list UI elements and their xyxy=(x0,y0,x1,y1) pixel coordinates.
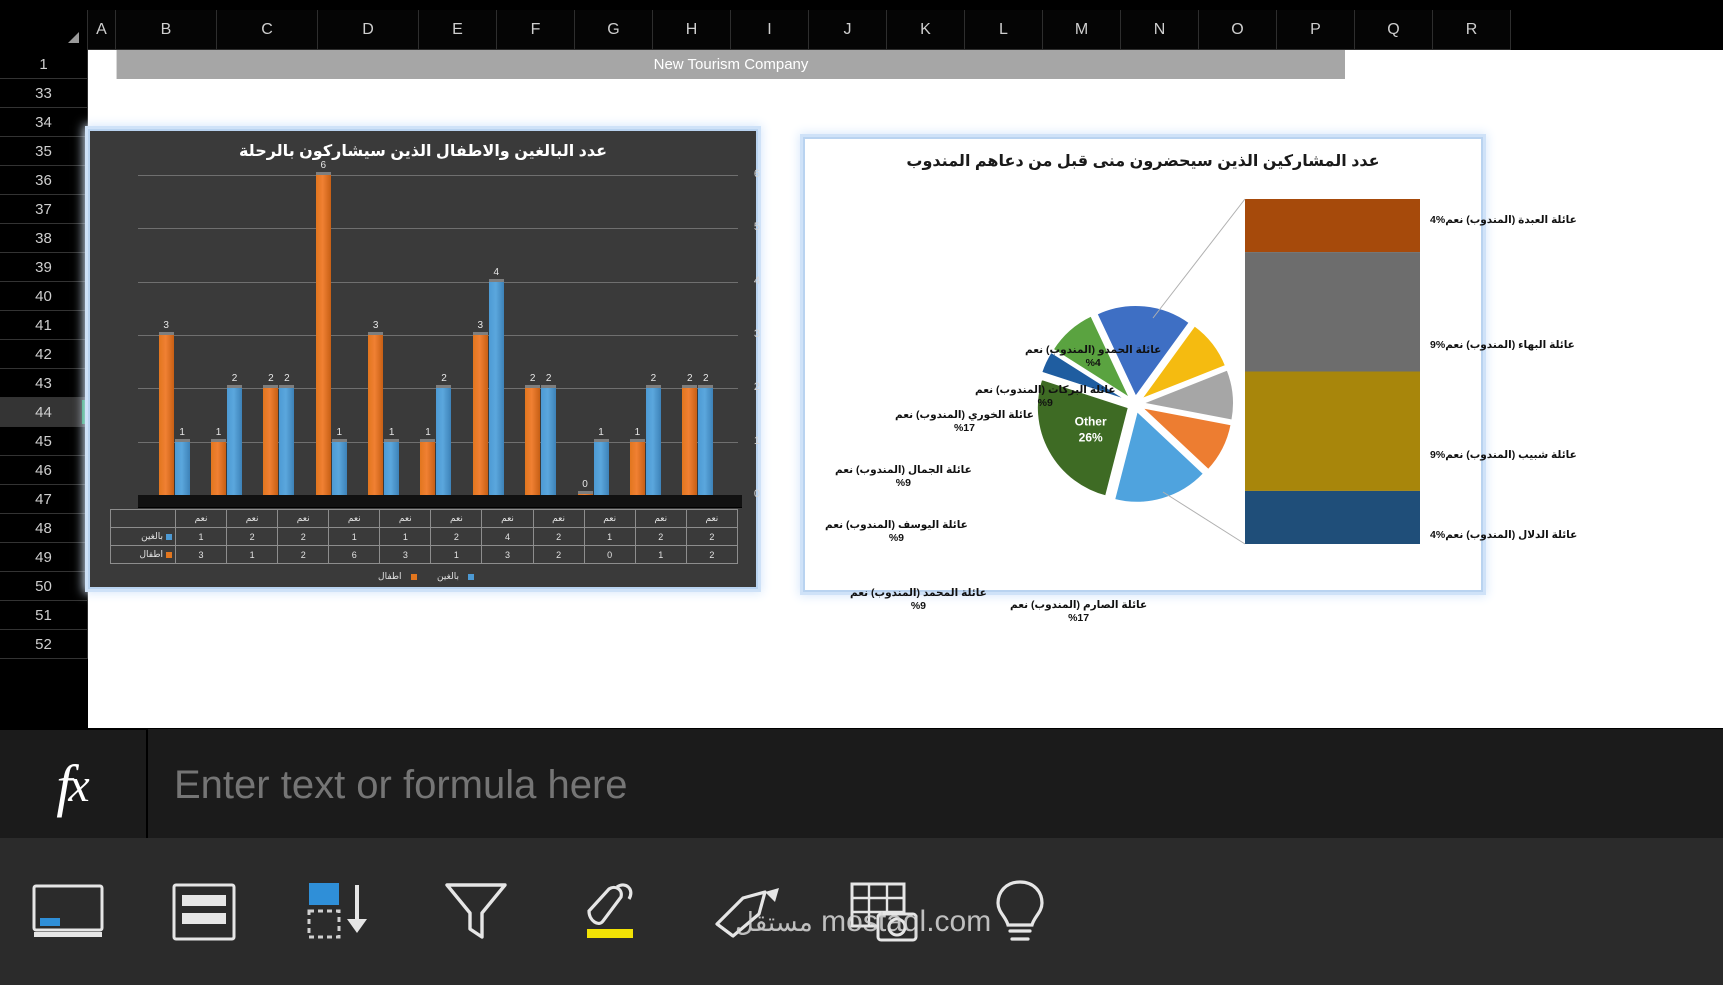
data-table-cell: 2 xyxy=(533,546,584,564)
legend-item-children: اطفال xyxy=(372,571,417,581)
spreadsheet-grid[interactable]: ABCDEFGHIJKLMNOPQR 133343536373839404142… xyxy=(0,0,1723,728)
row-header-42[interactable]: 42 xyxy=(0,340,88,369)
data-table-cell: 3 xyxy=(176,546,227,564)
bar-chart-data-table: نعمنعمنعمنعمنعمنعمنعمنعمنعمنعمنعمبالغين1… xyxy=(110,509,738,564)
bar-group[interactable]: 34 xyxy=(462,175,514,495)
bar-value-label: 2 xyxy=(639,373,668,384)
pie-connector-line xyxy=(1163,492,1245,544)
row-header-48[interactable]: 48 xyxy=(0,514,88,543)
data-table-category: نعم xyxy=(227,510,278,528)
fx-icon: fx xyxy=(0,730,148,840)
pie-label: عائلة البركات (المندوب) نعم%9 xyxy=(975,384,1116,410)
column-header-I[interactable]: I xyxy=(731,10,809,50)
data-table-category: نعم xyxy=(380,510,431,528)
row-header-36[interactable]: 36 xyxy=(0,166,88,195)
row-header-39[interactable]: 39 xyxy=(0,253,88,282)
bar-value-label: 2 xyxy=(272,373,301,384)
column-header-O[interactable]: O xyxy=(1199,10,1277,50)
data-table-cell: 1 xyxy=(635,546,686,564)
bar-value-label: 1 xyxy=(325,427,354,438)
data-table-cell: 6 xyxy=(329,546,380,564)
bar[interactable]: 3 xyxy=(159,335,174,495)
column-header-Q[interactable]: Q xyxy=(1355,10,1433,50)
secondary-bar-label: عائلة الدلال (المندوب) نعم%4 xyxy=(1430,529,1577,542)
chart-canvas: عدد البالغين والاطفال الذين سيشاركون بال… xyxy=(88,79,1723,728)
row-header-52[interactable]: 52 xyxy=(0,630,88,659)
bar-value-label: 1 xyxy=(587,427,616,438)
bar-group[interactable]: 22 xyxy=(672,175,724,495)
bar-group[interactable]: 22 xyxy=(515,175,567,495)
data-table-row: بالغين12211242122 xyxy=(111,528,738,546)
bar[interactable]: 2 xyxy=(525,388,540,495)
data-table-cell: 2 xyxy=(278,546,329,564)
data-table-cell: 1 xyxy=(584,528,635,546)
bar[interactable]: 2 xyxy=(436,388,451,495)
bar-value-label: 3 xyxy=(152,320,181,331)
column-header-L[interactable]: L xyxy=(965,10,1043,50)
secondary-bar-label: عائلة العبدة (المندوب) نعم%4 xyxy=(1430,214,1577,227)
data-table-category: نعم xyxy=(329,510,380,528)
column-header-K[interactable]: K xyxy=(887,10,965,50)
column-header-F[interactable]: F xyxy=(497,10,575,50)
bar[interactable]: 2 xyxy=(263,388,278,495)
bar-value-label: 2 xyxy=(429,373,458,384)
bar[interactable]: 4 xyxy=(489,282,504,495)
pie-label: عائلة الحمدو (المندوب) نعم%4 xyxy=(1025,344,1161,370)
bottom-toolbar[interactable] xyxy=(0,838,1723,985)
row-header-44[interactable]: 44 xyxy=(0,398,88,427)
row-header-38[interactable]: 38 xyxy=(0,224,88,253)
bar[interactable]: 2 xyxy=(682,388,697,495)
data-table-cell: 2 xyxy=(431,528,482,546)
data-table-category: نعم xyxy=(635,510,686,528)
data-table-category: نعم xyxy=(533,510,584,528)
column-header-A[interactable]: A xyxy=(88,10,116,50)
bar-group[interactable]: 61 xyxy=(305,175,357,495)
bar-group[interactable]: 31 xyxy=(357,175,409,495)
y-axis-tick: 1 xyxy=(754,435,760,447)
pie-label: عائلة اليوسف (المندوب) نعم%9 xyxy=(825,519,968,545)
bar-value-label: 1 xyxy=(168,427,197,438)
secondary-bar-label: عائلة البهاء (المندوب) نعم%9 xyxy=(1430,339,1575,352)
row-header-47[interactable]: 47 xyxy=(0,485,88,514)
column-header-M[interactable]: M xyxy=(1043,10,1121,50)
data-table-cell: 1 xyxy=(380,528,431,546)
row-header-40[interactable]: 40 xyxy=(0,282,88,311)
column-header-E[interactable]: E xyxy=(419,10,497,50)
column-header-G[interactable]: G xyxy=(575,10,653,50)
data-table-cell: 2 xyxy=(686,528,737,546)
legend-item-adults: بالغين xyxy=(431,571,474,581)
bar[interactable]: 1 xyxy=(175,442,190,495)
pie-label: عائلة الخوري (المندوب) نعم%17 xyxy=(895,409,1034,435)
camera-table-icon[interactable] xyxy=(816,838,952,985)
row-header-51[interactable]: 51 xyxy=(0,601,88,630)
y-axis-tick: 3 xyxy=(754,328,760,340)
column-header-C[interactable]: C xyxy=(217,10,318,50)
data-table-cell: 0 xyxy=(584,546,635,564)
row-header-46[interactable]: 46 xyxy=(0,456,88,485)
column-header-J[interactable]: J xyxy=(809,10,887,50)
ideas-lightbulb-icon[interactable] xyxy=(952,838,1088,985)
row-header-33[interactable]: 33 xyxy=(0,79,88,108)
grid-body[interactable]: New Tourism Company عدد البالغين والاطفا… xyxy=(88,50,1723,728)
bar-group[interactable]: 31 xyxy=(148,175,200,495)
y-axis-tick: 6 xyxy=(754,168,760,180)
data-table-cell: 2 xyxy=(227,528,278,546)
data-table-cell: 1 xyxy=(431,546,482,564)
sort-descending-icon[interactable] xyxy=(272,838,408,985)
pie-slice-label: 26% xyxy=(1079,430,1103,444)
bar[interactable]: 1 xyxy=(594,442,609,495)
fill-color-icon[interactable] xyxy=(544,838,680,985)
bar-value-label: 2 xyxy=(534,373,563,384)
secondary-bar-segment[interactable] xyxy=(1245,372,1420,491)
pie-slice-label: Other xyxy=(1075,414,1107,428)
y-axis-tick: 2 xyxy=(754,381,760,393)
row-header-45[interactable]: 45 xyxy=(0,427,88,456)
bar-value-label: 3 xyxy=(361,320,390,331)
freeze-panes-icon[interactable] xyxy=(0,838,136,985)
bar[interactable]: 1 xyxy=(630,442,645,495)
bar-group[interactable]: 12 xyxy=(200,175,252,495)
formula-input[interactable] xyxy=(148,729,1723,841)
bar[interactable]: 2 xyxy=(698,388,713,495)
bar-group[interactable]: 12 xyxy=(619,175,671,495)
secondary-bar-label: عائلة شبيب (المندوب) نعم%9 xyxy=(1430,449,1577,462)
bar-chart-legend: بالغين اطفال xyxy=(90,571,756,582)
select-all-corner[interactable] xyxy=(0,10,88,50)
bar-group[interactable]: 01 xyxy=(567,175,619,495)
y-axis-tick: 5 xyxy=(754,221,760,233)
bar[interactable]: 6 xyxy=(316,175,331,495)
row-header-35[interactable]: 35 xyxy=(0,137,88,166)
bar[interactable]: 3 xyxy=(368,335,383,495)
data-table-cell: 2 xyxy=(278,528,329,546)
column-header-N[interactable]: N xyxy=(1121,10,1199,50)
data-table-category: نعم xyxy=(176,510,227,528)
bar-value-label: 4 xyxy=(482,267,511,278)
secondary-bar-segment[interactable] xyxy=(1245,199,1420,252)
column-header-D[interactable]: D xyxy=(318,10,419,50)
title-row: New Tourism Company xyxy=(88,50,1723,79)
y-axis-tick: 0 xyxy=(754,488,760,500)
bar[interactable]: 1 xyxy=(211,442,226,495)
data-table-row-label: بالغين xyxy=(111,528,176,546)
data-table-cell: 1 xyxy=(227,546,278,564)
bar-chart[interactable]: عدد البالغين والاطفال الذين سيشاركون بال… xyxy=(88,129,758,589)
data-table-cell: 3 xyxy=(482,546,533,564)
pie-label: عائلة الجمال (المندوب) نعم%9 xyxy=(835,464,972,490)
data-table-cell: 1 xyxy=(176,528,227,546)
table-style-icon[interactable] xyxy=(136,838,272,985)
bar[interactable]: 1 xyxy=(384,442,399,495)
data-table-category: نعم xyxy=(482,510,533,528)
bar-series-container: 3112226131123422011222 xyxy=(148,175,724,495)
data-table-cell: 2 xyxy=(635,528,686,546)
secondary-bar-segment[interactable] xyxy=(1245,252,1420,371)
bar[interactable]: 2 xyxy=(279,388,294,495)
column-header-R[interactable]: R xyxy=(1433,10,1511,50)
title-row-filler xyxy=(1345,50,1723,79)
data-table-category: نعم xyxy=(431,510,482,528)
formula-bar[interactable]: fx xyxy=(0,728,1723,840)
data-table-category: نعم xyxy=(686,510,737,528)
y-axis-tick: 4 xyxy=(754,275,760,287)
data-table-category: نعم xyxy=(584,510,635,528)
row-header-column: 1333435363738394041424344454647484950515… xyxy=(0,50,88,659)
row-header-34[interactable]: 34 xyxy=(0,108,88,137)
bar-value-label: 6 xyxy=(309,160,338,171)
data-table-row-label: اطفال xyxy=(111,546,176,564)
bar-value-label: 1 xyxy=(377,427,406,438)
bar-chart-floor xyxy=(138,495,742,507)
eraser-icon[interactable] xyxy=(680,838,816,985)
column-header-H[interactable]: H xyxy=(653,10,731,50)
data-table-cell: 4 xyxy=(482,528,533,546)
secondary-bar-segment[interactable] xyxy=(1245,491,1420,544)
bar-value-label: 2 xyxy=(691,373,720,384)
bar[interactable]: 2 xyxy=(646,388,661,495)
row-header-37[interactable]: 37 xyxy=(0,195,88,224)
data-table-cell: 2 xyxy=(686,546,737,564)
bar[interactable]: 1 xyxy=(420,442,435,495)
data-table-category: نعم xyxy=(278,510,329,528)
data-table-category-row: نعمنعمنعمنعمنعمنعمنعمنعمنعمنعمنعم xyxy=(111,510,738,528)
column-header-B[interactable]: B xyxy=(116,10,217,50)
bar-group[interactable]: 12 xyxy=(410,175,462,495)
pie-label: عائلة المحمد (المندوب) نعم%9 xyxy=(850,587,987,613)
data-table-cell: 2 xyxy=(533,528,584,546)
pie-label: عائلة الصارم (المندوب) نعم%17 xyxy=(1010,599,1147,625)
bar[interactable]: 2 xyxy=(541,388,556,495)
bar-chart-title: عدد البالغين والاطفال الذين سيشاركون بال… xyxy=(90,141,756,161)
column-header-P[interactable]: P xyxy=(1277,10,1355,50)
pie-connector-line xyxy=(1153,199,1245,318)
data-table-cell: 1 xyxy=(329,528,380,546)
filter-icon[interactable] xyxy=(408,838,544,985)
pie-plot-area: Other26% عائلة الحمدو (المندوب) نعم%4عائ… xyxy=(805,139,1481,590)
data-table-cell: 3 xyxy=(380,546,431,564)
select-all-triangle-icon xyxy=(68,32,79,43)
sheet-title-cell[interactable]: New Tourism Company xyxy=(117,50,1345,79)
row-header-49[interactable]: 49 xyxy=(0,543,88,572)
row-header-50[interactable]: 50 xyxy=(0,572,88,601)
bar[interactable]: 1 xyxy=(332,442,347,495)
bar[interactable]: 3 xyxy=(473,335,488,495)
bar-group[interactable]: 22 xyxy=(253,175,305,495)
bar-chart-plot-area: 6543210 3112226131123422011222 xyxy=(138,175,738,495)
row-header-41[interactable]: 41 xyxy=(0,311,88,340)
pie-of-pie-chart[interactable]: عدد المشاركين الذين سيحضرون منى قبل من د… xyxy=(803,137,1483,592)
cell-a1[interactable] xyxy=(88,50,117,79)
row-header-43[interactable]: 43 xyxy=(0,369,88,398)
data-table-row: اطفال31263132012 xyxy=(111,546,738,564)
bar-value-label: 2 xyxy=(220,373,249,384)
row-header-1[interactable]: 1 xyxy=(0,50,88,79)
column-header-row: ABCDEFGHIJKLMNOPQR xyxy=(0,10,1723,50)
bar[interactable]: 2 xyxy=(227,388,242,495)
